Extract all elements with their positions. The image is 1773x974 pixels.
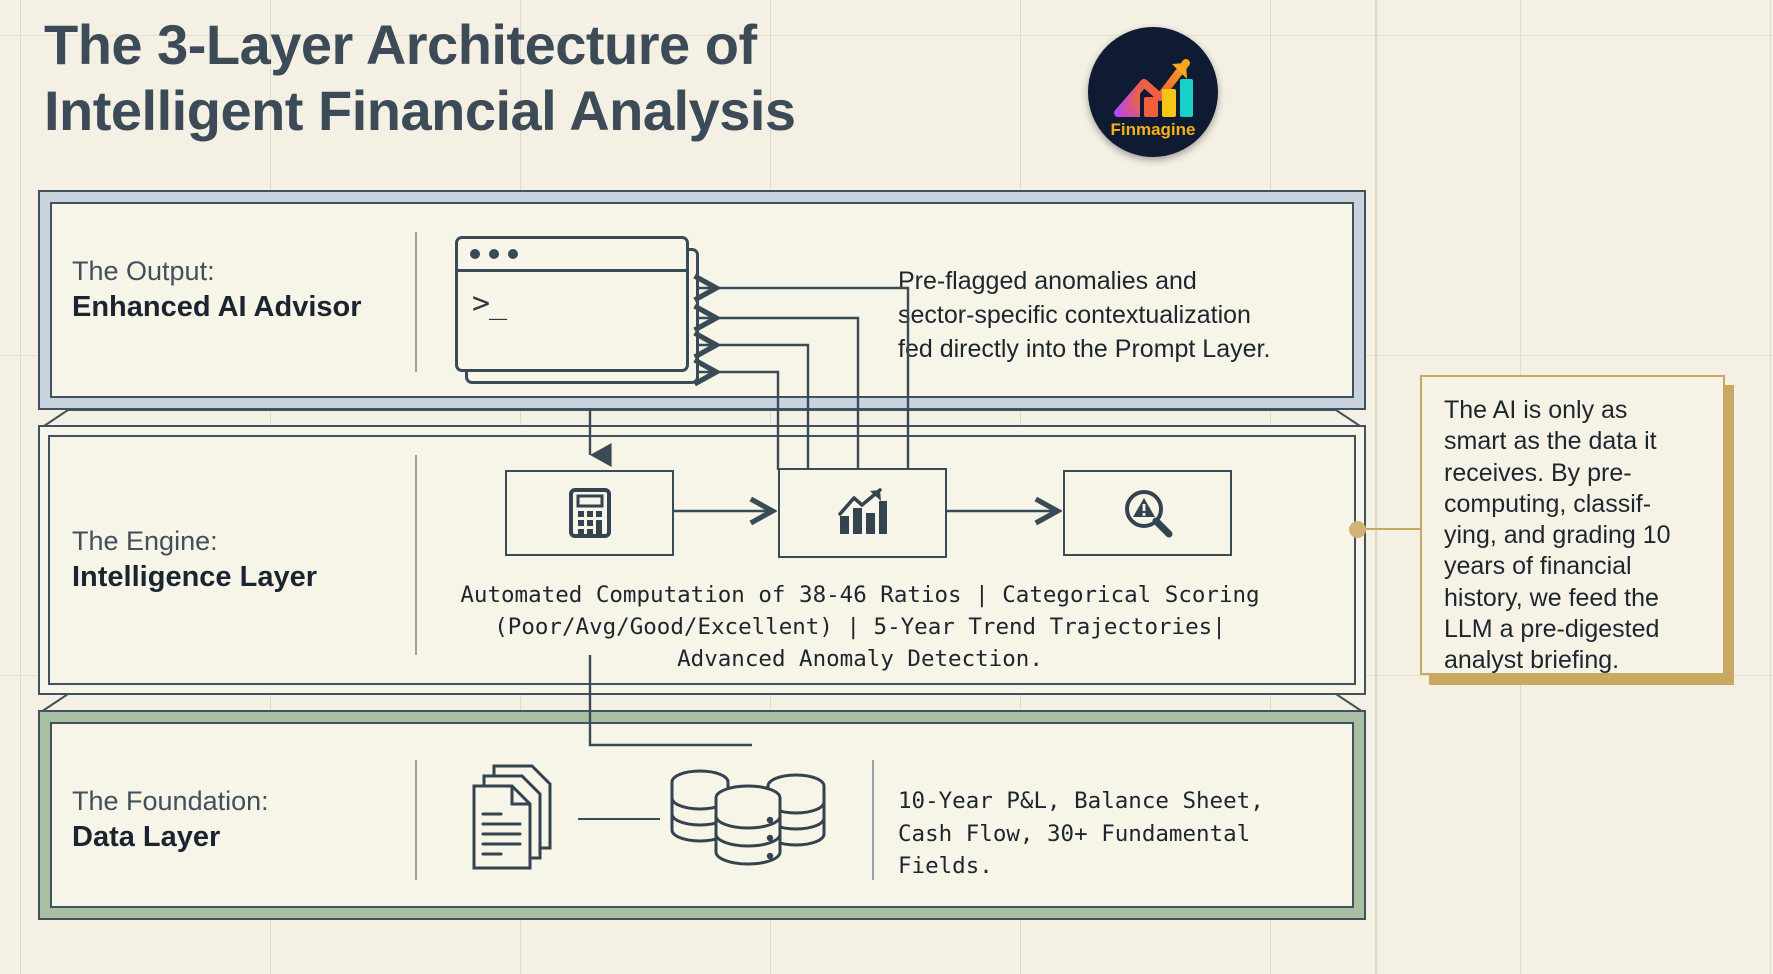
sticky-connector-line	[1360, 528, 1422, 530]
layer-output-label: The Output: Enhanced AI Advisor	[72, 255, 362, 326]
documents-icon	[468, 762, 560, 872]
sticky-note-text: The AI is only as smart as the data it r…	[1422, 377, 1723, 676]
output-divider	[415, 232, 417, 372]
output-note-text: Pre-flagged anomalies and sector-specifi…	[898, 264, 1318, 366]
finmagine-logo: Finmagine	[1088, 27, 1218, 157]
terminal-prompt: >_	[458, 272, 686, 321]
engine-caption: Automated Computation of 38-46 Ratios | …	[430, 580, 1290, 676]
database-stack-icon-wrap	[668, 768, 828, 881]
layer-output-name: Enhanced AI Advisor	[72, 289, 362, 327]
foundation-divider-right	[872, 760, 874, 880]
terminal-dot-yellow	[489, 249, 499, 259]
logo-wordmark: Finmagine	[1110, 120, 1195, 139]
layer-foundation-eyebrow: The Foundation:	[72, 785, 269, 819]
calculator-icon	[568, 487, 612, 539]
layer-engine-name: Intelligence Layer	[72, 559, 317, 597]
anomaly-magnifier-icon	[1122, 487, 1174, 539]
engine-step-calculator[interactable]	[505, 470, 674, 556]
sticky-connector-dot	[1349, 521, 1366, 538]
terminal-dot-green	[508, 249, 518, 259]
terminal-titlebar	[458, 239, 686, 272]
terminal-window-front[interactable]: >_	[455, 236, 689, 372]
terminal-window[interactable]: >_	[455, 236, 685, 366]
layer-output-eyebrow: The Output:	[72, 255, 362, 289]
terminal-dot-red	[470, 249, 480, 259]
layer-engine-label: The Engine: Intelligence Layer	[72, 525, 317, 596]
sticky-note-card[interactable]: The AI is only as smart as the data it r…	[1420, 375, 1725, 675]
logo-chart-icon: Finmagine	[1100, 39, 1206, 145]
layer-foundation-name: Data Layer	[72, 819, 269, 857]
engine-step-trend[interactable]	[778, 468, 947, 558]
layer-foundation-label: The Foundation: Data Layer	[72, 785, 269, 856]
engine-step-anomaly[interactable]	[1063, 470, 1232, 556]
engine-divider	[415, 455, 417, 655]
foundation-caption: 10-Year P&L, Balance Sheet, Cash Flow, 3…	[898, 785, 1338, 883]
bar-chart-trend-icon	[836, 488, 890, 538]
database-stack-icon	[668, 768, 828, 876]
header: The 3-Layer Architecture of Intelligent …	[44, 12, 1164, 172]
foundation-connector-line	[578, 818, 660, 820]
page-title: The 3-Layer Architecture of Intelligent …	[44, 12, 1164, 144]
documents-icon-wrap	[468, 762, 560, 877]
foundation-divider-left	[415, 760, 417, 880]
layer-engine-eyebrow: The Engine:	[72, 525, 317, 559]
sticky-note[interactable]: The AI is only as smart as the data it r…	[1420, 375, 1725, 675]
